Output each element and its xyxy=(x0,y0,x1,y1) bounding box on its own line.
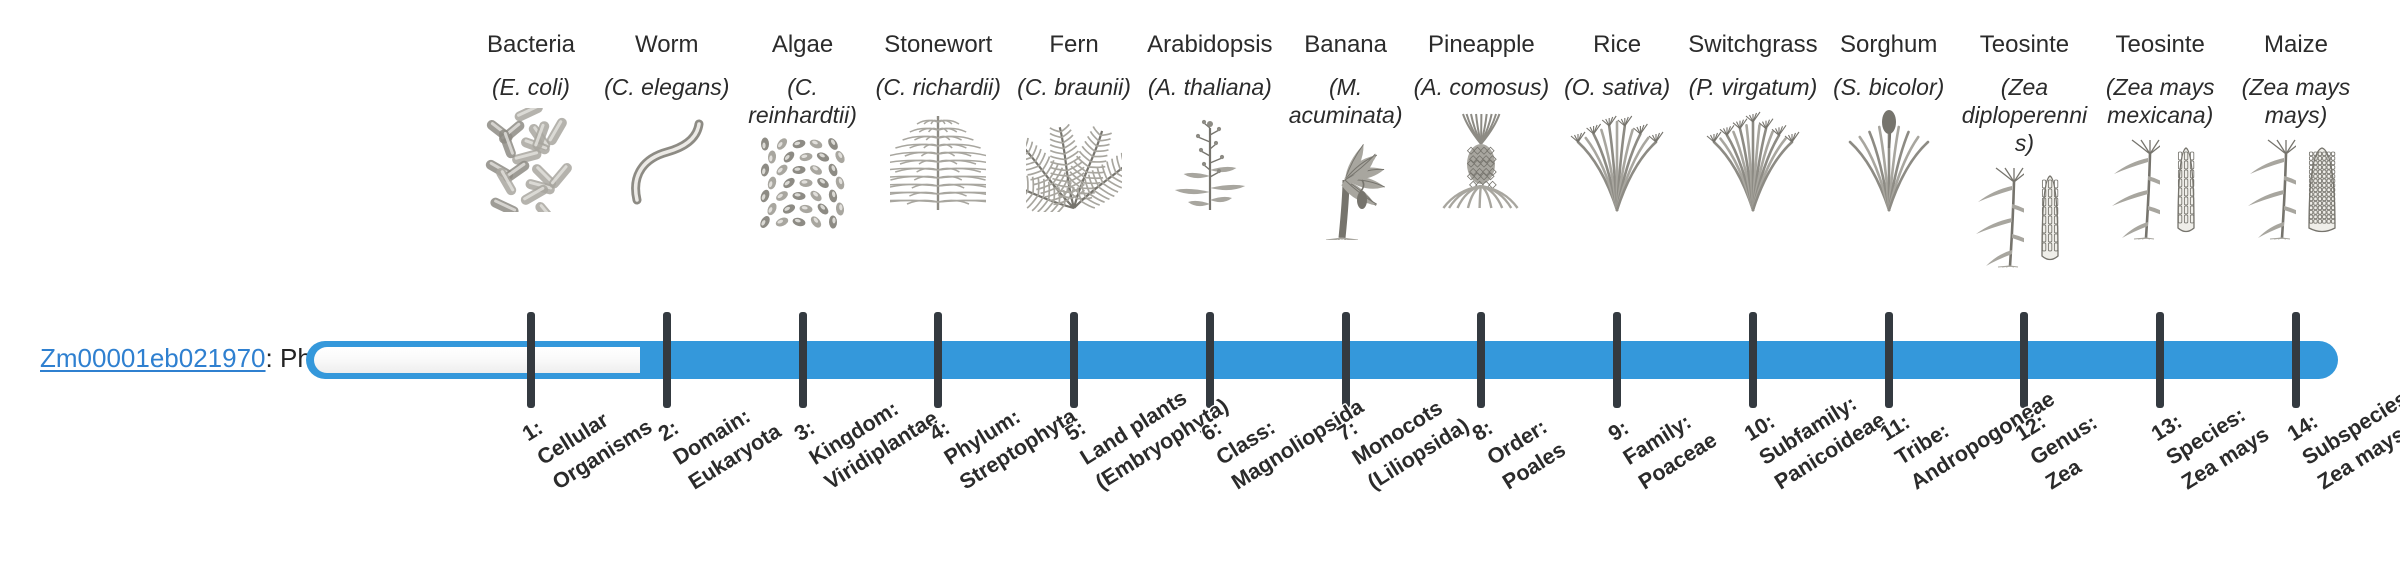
phylostratum-figure: Zm00001eb021970: Phylostratum 2 Bacteria… xyxy=(0,0,2400,580)
taxonomic-rank-label-list: 1: Cellular Organisms2: Domain: Eukaryot… xyxy=(0,0,2400,580)
